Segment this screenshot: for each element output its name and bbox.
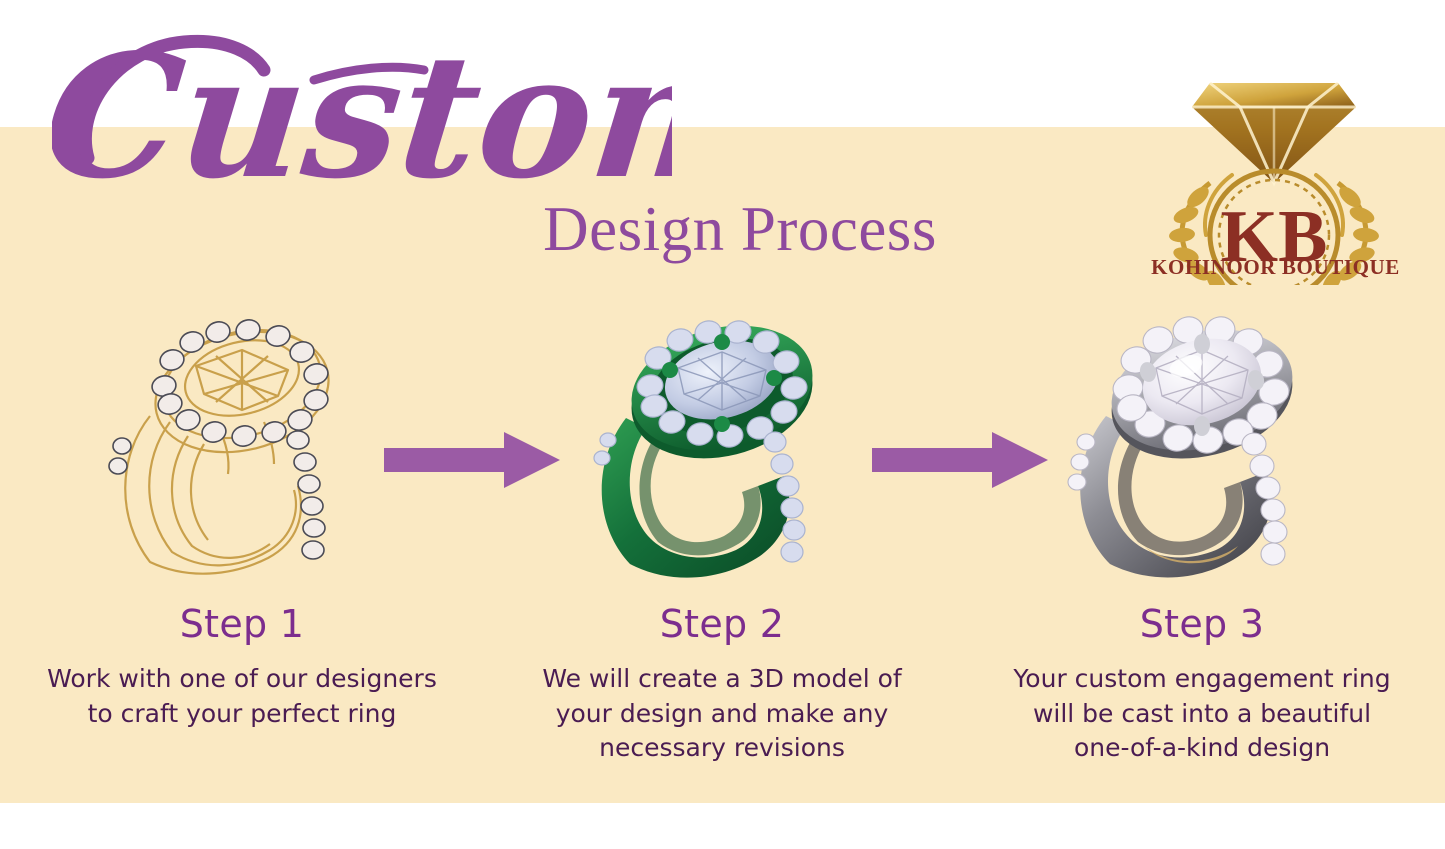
step-1-body: Work with one of our designers to craft …	[22, 662, 462, 731]
page-subtitle: Design Process	[480, 198, 1000, 261]
step-column-1: Step 1 Work with one of our designers to…	[12, 300, 472, 731]
step-column-3: Step 3 Your custom engagement ring will …	[972, 300, 1432, 766]
steps-row: Step 1 Work with one of our designers to…	[0, 300, 1445, 800]
step-column-2: Step 2 We will create a 3D model of your…	[492, 300, 952, 766]
white-bottom-band	[0, 803, 1445, 849]
brand-logo[interactable]: KB	[1148, 55, 1400, 285]
ring-3d-cad-render	[572, 300, 872, 580]
diamond-gem-icon	[1192, 83, 1356, 183]
page-title-script: Custom	[52, 8, 672, 223]
step-2-title: Step 2	[492, 602, 952, 646]
infographic-canvas: Custom Design Process	[0, 0, 1445, 849]
arrow-step2-to-step3	[870, 428, 1050, 492]
step-1-title: Step 1	[12, 602, 472, 646]
step-2-body: We will create a 3D model of your design…	[502, 662, 942, 766]
ring-sketch-illustration	[92, 300, 392, 580]
arrow-step1-to-step2	[382, 428, 562, 492]
ring-finished-photo	[1052, 300, 1352, 580]
step-3-body: Your custom engagement ring will be cast…	[982, 662, 1422, 766]
logo-wordmark: KOHINOOR BOUTIQUE	[1138, 255, 1413, 280]
step-3-title: Step 3	[972, 602, 1432, 646]
